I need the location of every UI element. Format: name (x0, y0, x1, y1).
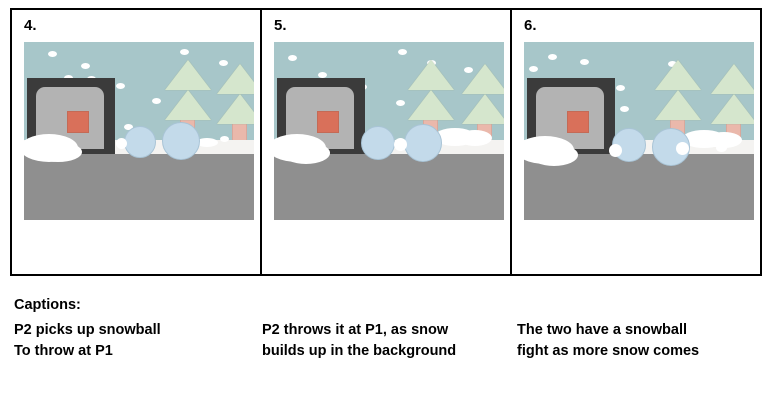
snow-drift (34, 142, 82, 162)
tree-foliage-lower (165, 90, 211, 120)
snowball (609, 144, 622, 157)
caption-panel-4: P2 picks up snowball To throw at P1 (14, 320, 254, 362)
snow-drift (458, 130, 492, 146)
house-window (567, 111, 589, 133)
tree-foliage-lower (217, 94, 254, 124)
caption-line-2: To throw at P1 (14, 341, 254, 362)
panel-number: 5. (274, 18, 287, 33)
snowflake-icon (180, 49, 189, 55)
tree-foliage-lower (462, 94, 504, 124)
tree-foliage-lower (655, 90, 701, 120)
snowball (676, 142, 689, 155)
caption-line-1: P2 picks up snowball (14, 320, 254, 341)
snowball (116, 138, 127, 149)
scene-illustration-6 (524, 42, 754, 220)
storyboard-panel-5[interactable]: 5. (260, 10, 510, 274)
captions-label: Captions: (14, 298, 81, 313)
captions-block: Captions: P2 picks up snowball To throw … (14, 298, 774, 398)
panel-row: 4. (10, 8, 762, 276)
character-p2 (404, 124, 442, 162)
character-p1 (124, 126, 156, 158)
caption-panel-5: P2 throws it at P1, as snow builds up in… (262, 320, 517, 362)
panel-number: 6. (524, 18, 537, 33)
tree-foliage-upper (165, 60, 211, 90)
caption-panel-6: The two have a snowball fight as more sn… (517, 320, 772, 362)
tree-foliage-upper (655, 60, 701, 90)
snowflake-icon (396, 100, 405, 106)
snowflake-icon (580, 59, 589, 65)
snowflake-icon (48, 51, 57, 57)
tree-foliage-upper (711, 64, 754, 94)
character-p1 (361, 126, 395, 160)
snowflake-icon (529, 66, 538, 72)
storyboard: 4. (0, 0, 780, 404)
snowflake-icon (288, 55, 297, 61)
storyboard-panel-6[interactable]: 6. (510, 10, 760, 274)
tree-foliage-lower (408, 90, 454, 120)
snow-drift (282, 142, 330, 164)
snowflake-icon (81, 63, 90, 69)
caption-line-2: fight as more snow comes (517, 341, 772, 362)
snowflake-icon (152, 98, 161, 104)
caption-line-2: builds up in the background (262, 341, 517, 362)
tree-foliage-upper (462, 64, 504, 94)
house-window (317, 111, 339, 133)
scene-illustration-5 (274, 42, 504, 220)
ground (24, 154, 254, 220)
snow-drift (530, 144, 578, 166)
tree-foliage-upper (408, 60, 454, 90)
snow-drift (716, 144, 727, 152)
scene-illustration-4 (24, 42, 254, 220)
tree-foliage-lower (711, 94, 754, 124)
snowball (394, 138, 407, 151)
panel-number: 4. (24, 18, 37, 33)
snow-drift (220, 136, 229, 142)
house-window (67, 111, 89, 133)
snowflake-icon (116, 83, 125, 89)
snowflake-icon (548, 54, 557, 60)
snowflake-icon (620, 106, 629, 112)
character-p2 (162, 122, 200, 160)
snowflake-icon (616, 85, 625, 91)
snowflake-icon (398, 49, 407, 55)
storyboard-panel-4[interactable]: 4. (12, 10, 260, 274)
tree-foliage-upper (217, 64, 254, 94)
caption-line-1: The two have a snowball (517, 320, 772, 341)
caption-line-1: P2 throws it at P1, as snow (262, 320, 517, 341)
